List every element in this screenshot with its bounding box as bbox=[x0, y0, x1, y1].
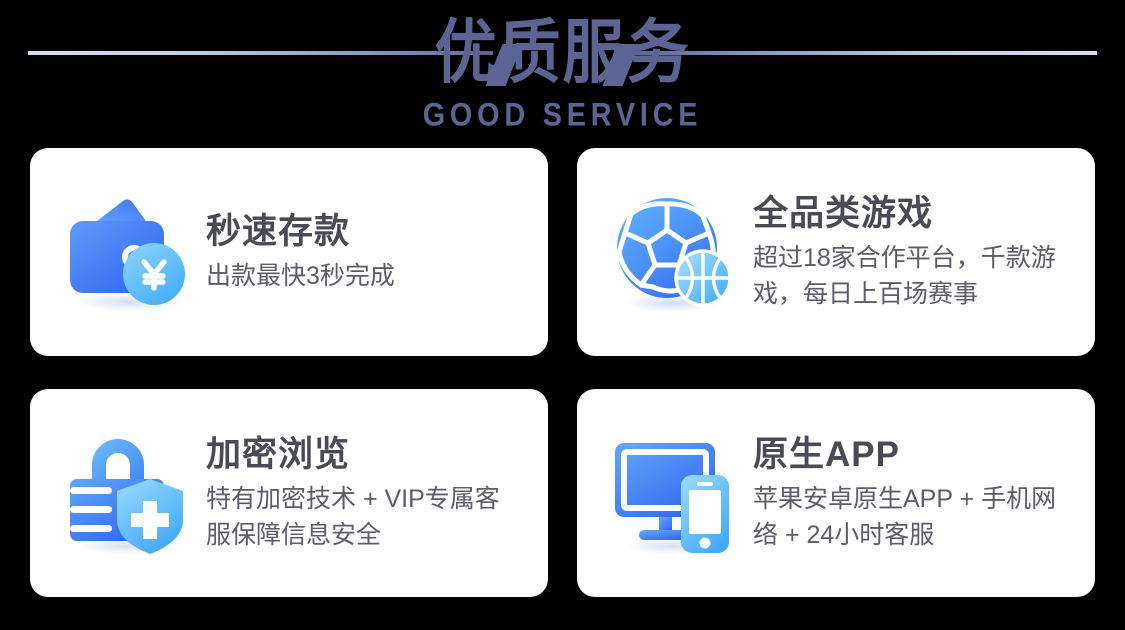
soccer-basketball-icon bbox=[607, 186, 739, 318]
feature-card-games[interactable]: 全品类游戏 超过18家合作平台，千款游戏，每日上百场赛事 bbox=[577, 148, 1095, 356]
banner-header: 优质服务 GOOD SERVICE bbox=[0, 0, 1125, 140]
feature-card-text: 秒速存款 出款最快3秒完成 bbox=[206, 210, 522, 294]
feature-card-deposit[interactable]: 秒速存款 出款最快3秒完成 bbox=[30, 148, 548, 356]
feature-card-encryption[interactable]: 加密浏览 特有加密技术 + VIP专属客服保障信息安全 bbox=[30, 389, 548, 597]
feature-card-title: 加密浏览 bbox=[206, 433, 522, 477]
feature-card-desc: 出款最快3秒完成 bbox=[206, 258, 522, 294]
feature-card-grid: 秒速存款 出款最快3秒完成 bbox=[30, 148, 1095, 597]
page-title: 优质服务 bbox=[0, 12, 1125, 95]
wallet-yen-icon bbox=[60, 186, 192, 318]
feature-card-desc: 苹果安卓原生APP + 手机网络 + 24小时客服 bbox=[753, 481, 1069, 553]
feature-card-text: 加密浏览 特有加密技术 + VIP专属客服保障信息安全 bbox=[206, 433, 522, 553]
service-features-banner: 优质服务 GOOD SERVICE bbox=[0, 0, 1125, 630]
feature-card-native-app[interactable]: 原生APP 苹果安卓原生APP + 手机网络 + 24小时客服 bbox=[577, 389, 1095, 597]
monitor-phone-icon bbox=[607, 427, 739, 559]
feature-card-desc: 特有加密技术 + VIP专属客服保障信息安全 bbox=[206, 481, 522, 553]
lock-shield-icon bbox=[60, 427, 192, 559]
feature-card-title: 秒速存款 bbox=[206, 210, 522, 254]
feature-card-desc: 超过18家合作平台，千款游戏，每日上百场赛事 bbox=[753, 240, 1069, 312]
feature-card-title: 全品类游戏 bbox=[753, 192, 1069, 236]
feature-card-text: 原生APP 苹果安卓原生APP + 手机网络 + 24小时客服 bbox=[753, 433, 1069, 553]
feature-card-text: 全品类游戏 超过18家合作平台，千款游戏，每日上百场赛事 bbox=[753, 192, 1069, 312]
page-subtitle: GOOD SERVICE bbox=[23, 98, 1103, 135]
feature-card-title: 原生APP bbox=[753, 433, 1069, 477]
